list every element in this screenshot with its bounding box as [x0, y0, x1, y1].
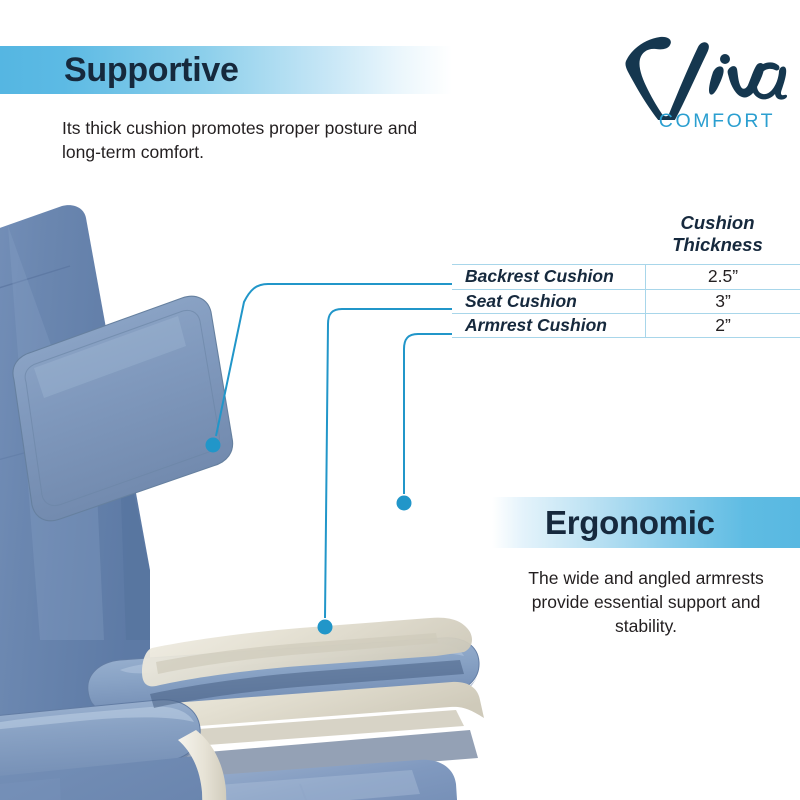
backrest-cushion-leader-line	[216, 284, 452, 436]
seat-cushion-dot	[318, 620, 333, 635]
infographic-canvas: Supportive Ergonomic Its thick cushion p…	[0, 0, 800, 800]
backrest-cushion-dot	[206, 438, 221, 453]
armrest-cushion-leader-line	[404, 334, 452, 494]
armrest-cushion-dot	[397, 496, 412, 511]
seat-cushion-leader-line	[325, 309, 452, 618]
callout-leader-lines	[0, 0, 800, 800]
